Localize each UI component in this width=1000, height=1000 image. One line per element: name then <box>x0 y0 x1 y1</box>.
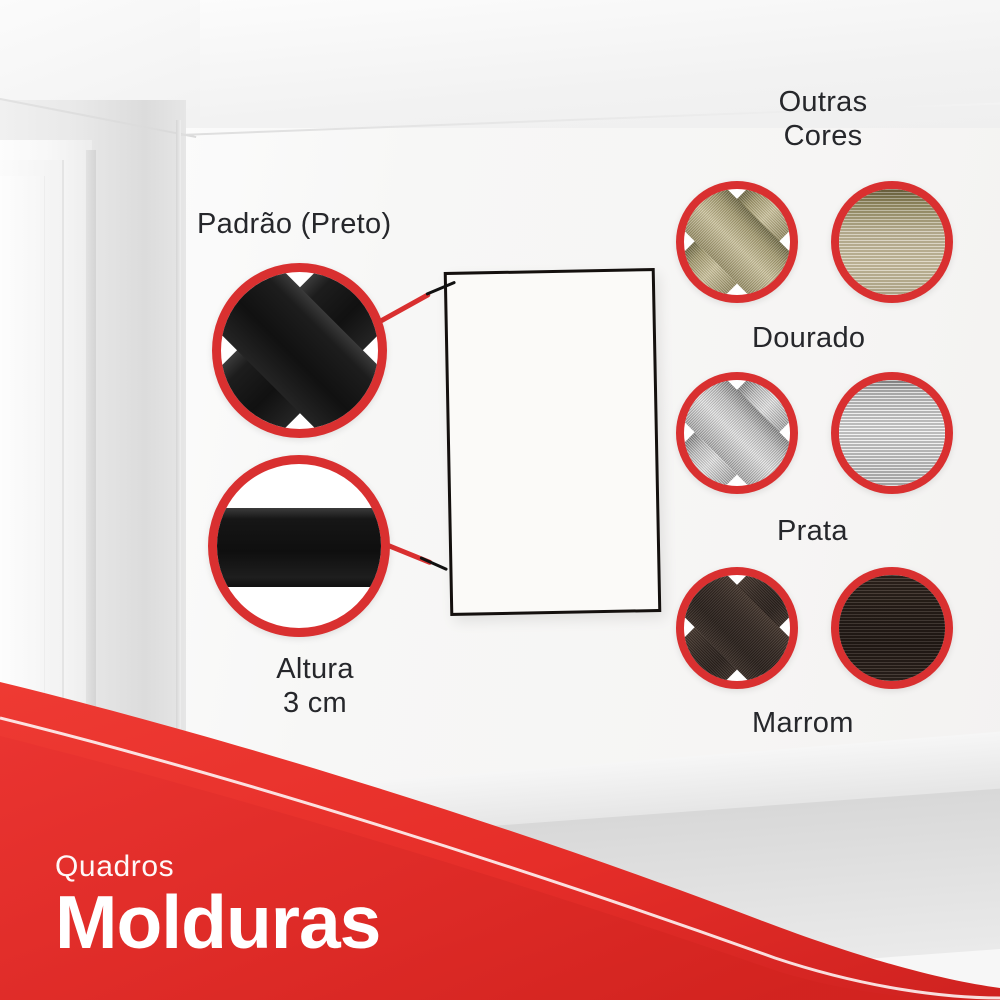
corner-sample-gold <box>684 189 790 295</box>
color-label-prata: Prata <box>777 515 848 548</box>
callout-label-padrao: Padrão (Preto) <box>197 208 391 241</box>
framed-poster-mockup <box>444 268 662 616</box>
infographic-canvas: Padrão (Preto) Altura 3 cm Outras Cores <box>0 0 1000 1000</box>
profile-height-sample <box>217 464 381 628</box>
color-swatch-prata[interactable] <box>831 372 953 494</box>
colors-heading-line2: Cores <box>738 119 908 153</box>
color-corner-prata[interactable] <box>676 372 798 494</box>
brand-lockup: Quadros Molduras <box>55 852 380 961</box>
colors-section-heading: Outras Cores <box>738 85 908 153</box>
silver-texture <box>839 380 945 486</box>
brand-subtitle: Quadros <box>55 852 380 882</box>
brand-title: Molduras <box>55 884 380 961</box>
colors-heading-line1: Outras <box>738 85 908 119</box>
corner-sample-silver <box>684 380 790 486</box>
color-label-dourado: Dourado <box>752 322 865 355</box>
color-corner-dourado[interactable] <box>676 181 798 303</box>
frame-profile-band <box>217 508 381 587</box>
gold-texture <box>839 189 945 295</box>
callout-badge-padrao <box>212 263 387 438</box>
color-swatch-dourado[interactable] <box>831 181 953 303</box>
corner-sample-black <box>221 272 378 429</box>
callout-badge-altura <box>208 455 390 637</box>
